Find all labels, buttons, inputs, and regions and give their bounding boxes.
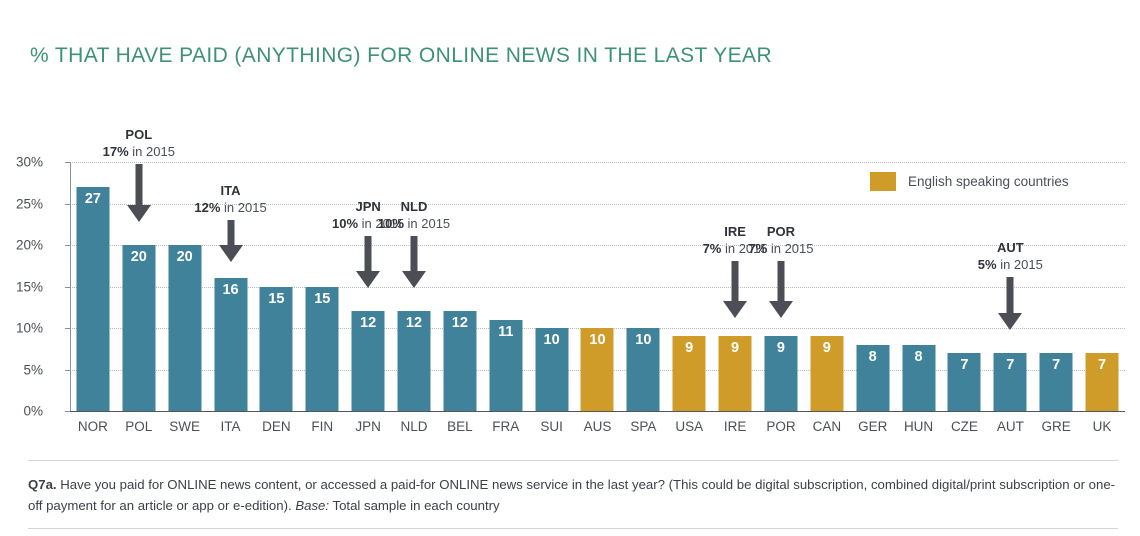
bar-value-label: 9: [673, 341, 706, 356]
footnote-text-base: Total sample in each country: [329, 498, 500, 513]
bar-value-label: 10: [535, 333, 568, 348]
bar-cze[interactable]: 7: [948, 353, 981, 411]
x-axis-label-ger: GER: [850, 419, 896, 434]
callout-arrow-ire: [723, 261, 747, 318]
bar-aut[interactable]: 7: [994, 353, 1027, 411]
x-axis-label-hun: HUN: [896, 419, 942, 434]
bar-slot: 8: [850, 162, 896, 411]
x-axis-label-fin: FIN: [299, 419, 345, 434]
footnote: Q7a. Have you paid for ONLINE news conte…: [28, 474, 1120, 516]
bar-slot: 7: [1079, 162, 1125, 411]
callout-value-number: 12%: [194, 200, 220, 215]
x-axis-label-pol: POL: [116, 419, 162, 434]
x-axis-label-gre: GRE: [1033, 419, 1079, 434]
bar-slot: 7: [1033, 162, 1079, 411]
arrow-head: [402, 271, 426, 288]
bar-value-label: 10: [581, 333, 614, 348]
bar-por[interactable]: 9: [764, 336, 797, 411]
y-axis-tick-label: 25%: [0, 196, 43, 211]
callout-country-label: ITA: [141, 182, 321, 199]
bar-value-label: 9: [764, 341, 797, 356]
arrow-shaft: [777, 261, 784, 301]
bar-ire[interactable]: 9: [719, 336, 752, 411]
x-axis-labels: NORPOLSWEITADENFINJPNNLDBELFRASUIAUSSPAU…: [70, 419, 1125, 441]
bar-pol[interactable]: 20: [122, 245, 155, 411]
bar-spa[interactable]: 10: [627, 328, 660, 411]
bar-slot: 10: [575, 162, 621, 411]
bar-nor[interactable]: 27: [76, 187, 109, 411]
bar-bel[interactable]: 12: [443, 311, 476, 411]
x-axis-label-jpn: JPN: [345, 419, 391, 434]
bar-value-label: 12: [352, 316, 385, 331]
callout-value-label: 5% in 2015: [920, 256, 1100, 273]
arrow-head: [769, 301, 793, 318]
x-axis-label-can: CAN: [804, 419, 850, 434]
bar-value-label: 9: [810, 341, 843, 356]
callout-value-number: 10%: [378, 216, 404, 231]
x-axis-label-uk: UK: [1079, 419, 1125, 434]
callout-aut: AUT5% in 2015: [920, 239, 1100, 273]
callout-value-number: 5%: [978, 257, 997, 272]
callout-country-label: POR: [691, 223, 871, 240]
bar-value-label: 20: [168, 250, 201, 265]
callout-country-label: NLD: [324, 198, 504, 215]
bar-value-label: 12: [443, 316, 476, 331]
bar-slot: 10: [529, 162, 575, 411]
bar-slot: 27: [70, 162, 116, 411]
footnote-question-code: Q7a.: [28, 477, 57, 492]
chart-legend: English speaking countries: [870, 172, 1069, 191]
bar-usa[interactable]: 9: [673, 336, 706, 411]
y-axis-tick-label: 0%: [0, 404, 43, 419]
bar-value-label: 27: [76, 192, 109, 207]
x-axis-label-por: POR: [758, 419, 804, 434]
footnote-divider-bottom: [28, 528, 1118, 529]
bar-value-label: 12: [398, 316, 431, 331]
x-axis-label-sui: SUI: [529, 419, 575, 434]
bar-swe[interactable]: 20: [168, 245, 201, 411]
bar-slot: 9: [804, 162, 850, 411]
x-axis-label-aus: AUS: [575, 419, 621, 434]
callout-arrow-por: [769, 261, 793, 318]
bar-den[interactable]: 15: [260, 287, 293, 412]
callout-nld: NLD10% in 2015: [324, 198, 504, 232]
bar-fra[interactable]: 11: [489, 320, 522, 411]
bar-ger[interactable]: 8: [856, 345, 889, 411]
x-axis-label-nld: NLD: [391, 419, 437, 434]
callout-value-number: 7%: [748, 241, 767, 256]
bar-value-label: 15: [306, 292, 339, 307]
bar-value-label: 8: [902, 350, 935, 365]
x-axis-label-usa: USA: [666, 419, 712, 434]
bar-uk[interactable]: 7: [1086, 353, 1119, 411]
x-axis-label-fra: FRA: [483, 419, 529, 434]
callout-pol: POL17% in 2015: [49, 126, 229, 160]
page-title: % THAT HAVE PAID (ANYTHING) FOR ONLINE N…: [30, 44, 772, 68]
legend-label-english-speaking: English speaking countries: [908, 174, 1069, 189]
bar-slot: 9: [666, 162, 712, 411]
bar-value-label: 7: [1086, 358, 1119, 373]
bar-value-label: 8: [856, 350, 889, 365]
legend-swatch-english-speaking: [870, 172, 896, 191]
bar-fin[interactable]: 15: [306, 287, 339, 412]
bar-value-label: 9: [719, 341, 752, 356]
arrow-shaft: [732, 261, 739, 301]
bar-value-label: 15: [260, 292, 293, 307]
y-axis-tick-label: 20%: [0, 238, 43, 253]
x-axis-label-den: DEN: [253, 419, 299, 434]
callout-value-label: 17% in 2015: [49, 143, 229, 160]
arrow-shaft: [365, 236, 372, 271]
bar-slot: 10: [620, 162, 666, 411]
bar-aus[interactable]: 10: [581, 328, 614, 411]
callout-arrow-aut: [998, 277, 1022, 330]
footnote-base-label: Base:: [295, 498, 329, 513]
arrow-shaft: [411, 236, 418, 271]
x-axis-label-bel: BEL: [437, 419, 483, 434]
callout-por: POR7% in 2015: [691, 223, 871, 257]
arrow-head: [723, 301, 747, 318]
x-axis-label-aut: AUT: [987, 419, 1033, 434]
y-axis-tick-label: 5%: [0, 362, 43, 377]
arrow-head: [356, 271, 380, 288]
callout-value-label: 7% in 2015: [691, 240, 871, 257]
x-axis-line: [70, 411, 1125, 412]
bar-value-label: 7: [1040, 358, 1073, 373]
callout-value-number: 17%: [103, 144, 129, 159]
y-axis-tick-label: 10%: [0, 321, 43, 336]
bar-value-label: 7: [994, 358, 1027, 373]
x-axis-label-spa: SPA: [620, 419, 666, 434]
callout-arrow-nld: [402, 236, 426, 288]
callout-arrow-ita: [219, 220, 243, 262]
arrow-shaft: [227, 220, 234, 245]
x-axis-label-nor: NOR: [70, 419, 116, 434]
footnote-divider-top: [28, 460, 1118, 461]
callout-country-label: POL: [49, 126, 229, 143]
callout-arrow-jpn: [356, 236, 380, 288]
bar-nld[interactable]: 12: [398, 311, 431, 411]
bar-gre[interactable]: 7: [1040, 353, 1073, 411]
x-axis-label-cze: CZE: [942, 419, 988, 434]
bar-sui[interactable]: 10: [535, 328, 568, 411]
x-axis-label-swe: SWE: [162, 419, 208, 434]
y-axis-tick-label: 30%: [0, 155, 43, 170]
bar-slot: 7: [942, 162, 988, 411]
bar-value-label: 10: [627, 333, 660, 348]
footnote-text-main: Have you paid for ONLINE news content, o…: [28, 477, 1115, 513]
y-axis-tick-label: 15%: [0, 279, 43, 294]
arrow-head: [219, 245, 243, 262]
bar-jpn[interactable]: 12: [352, 311, 385, 411]
arrow-head: [998, 313, 1022, 330]
bar-value-label: 20: [122, 250, 155, 265]
callout-country-label: AUT: [920, 239, 1100, 256]
bar-value-label: 7: [948, 358, 981, 373]
bar-slot: 8: [896, 162, 942, 411]
arrow-shaft: [1007, 277, 1014, 313]
x-axis-label-ita: ITA: [208, 419, 254, 434]
callout-value-label: 10% in 2015: [324, 215, 504, 232]
bar-ita[interactable]: 16: [214, 278, 247, 411]
bar-hun[interactable]: 8: [902, 345, 935, 411]
bar-value-label: 16: [214, 283, 247, 298]
bar-can[interactable]: 9: [810, 336, 843, 411]
bar-value-label: 11: [489, 325, 522, 340]
x-axis-label-ire: IRE: [712, 419, 758, 434]
